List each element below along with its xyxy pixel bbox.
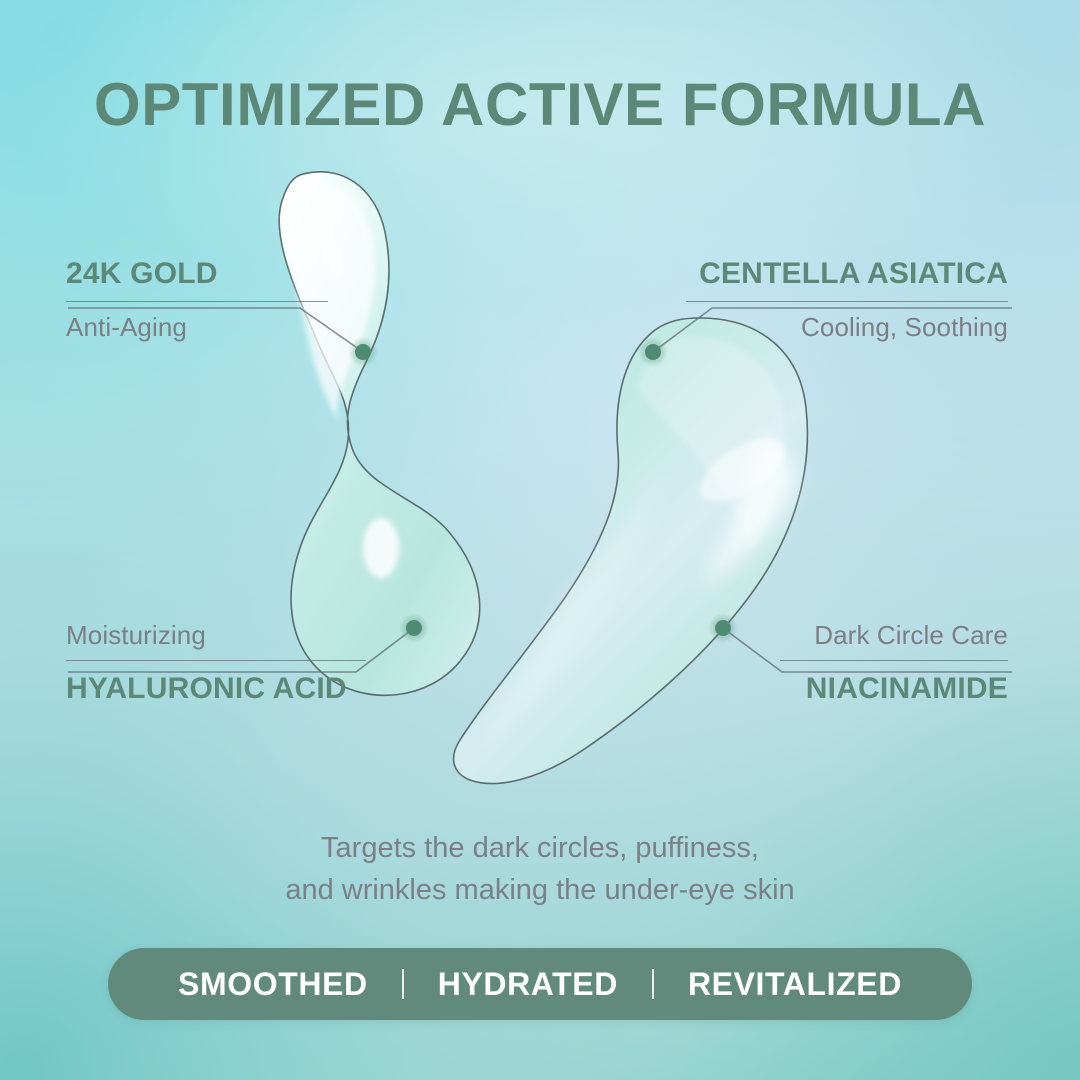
callout-subtitle-niacinamide: Dark Circle Care: [780, 622, 1008, 649]
callout-rule-24k-gold: [66, 301, 328, 302]
callout-centella-asiatica: CENTELLA ASIATICA Cooling, Soothing: [686, 258, 1008, 341]
benefit-hydrated: HYDRATED: [404, 966, 652, 1003]
callout-24k-gold: 24K GOLD Anti-Aging: [66, 258, 328, 341]
callout-subtitle-hyaluronic-acid: Moisturizing: [66, 622, 366, 649]
callout-hyaluronic-acid: Moisturizing HYALURONIC ACID: [66, 622, 366, 705]
callout-rule-niacinamide: [780, 660, 1008, 661]
callout-rule-hyaluronic-acid: [66, 660, 366, 661]
benefit-smoothed: SMOOTHED: [144, 966, 402, 1003]
callout-subtitle-centella-asiatica: Cooling, Soothing: [686, 314, 1008, 341]
callout-title-niacinamide: NIACINAMIDE: [780, 673, 1008, 705]
infographic-poster: OPTIMIZED ACTIVE FORMULA: [0, 0, 1080, 1080]
body-copy: Targets the dark circles, puffiness, and…: [0, 828, 1080, 912]
body-copy-line-1: Targets the dark circles, puffiness,: [0, 828, 1080, 870]
callout-title-centella-asiatica: CENTELLA ASIATICA: [686, 258, 1008, 290]
page-title: OPTIMIZED ACTIVE FORMULA: [0, 70, 1080, 139]
background-top-haze: [0, 0, 1080, 1080]
callout-niacinamide: Dark Circle Care NIACINAMIDE: [780, 622, 1008, 705]
benefit-revitalized: REVITALIZED: [654, 966, 936, 1003]
callout-subtitle-24k-gold: Anti-Aging: [66, 314, 328, 341]
body-copy-line-2: and wrinkles making the under-eye skin: [0, 870, 1080, 912]
callout-title-hyaluronic-acid: HYALURONIC ACID: [66, 673, 366, 705]
benefits-pill: SMOOTHED HYDRATED REVITALIZED: [108, 948, 972, 1020]
callout-title-24k-gold: 24K GOLD: [66, 258, 328, 290]
callout-rule-centella-asiatica: [686, 301, 1008, 302]
